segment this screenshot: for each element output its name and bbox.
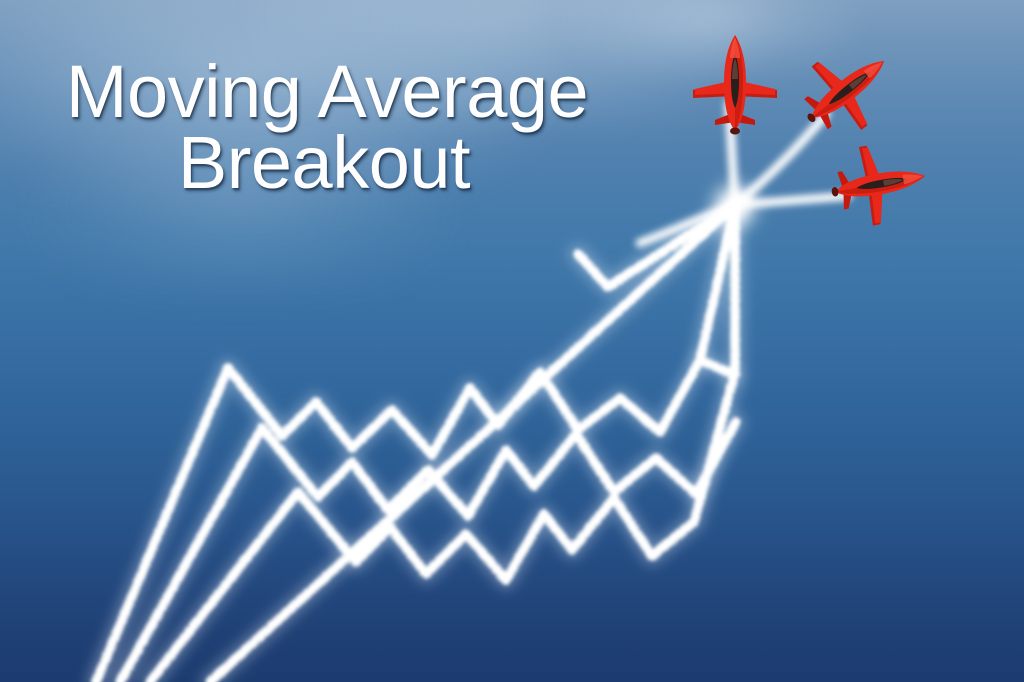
poster-canvas: Moving Average Breakout — [0, 0, 1024, 682]
jet-airframe-icon — [693, 35, 777, 135]
jet-airframe-icon — [825, 137, 932, 232]
jet-1 — [689, 32, 781, 136]
smoke-burst-node — [708, 179, 762, 233]
breakout-arrow-shaft — [210, 205, 735, 682]
jet-3 — [823, 132, 935, 235]
